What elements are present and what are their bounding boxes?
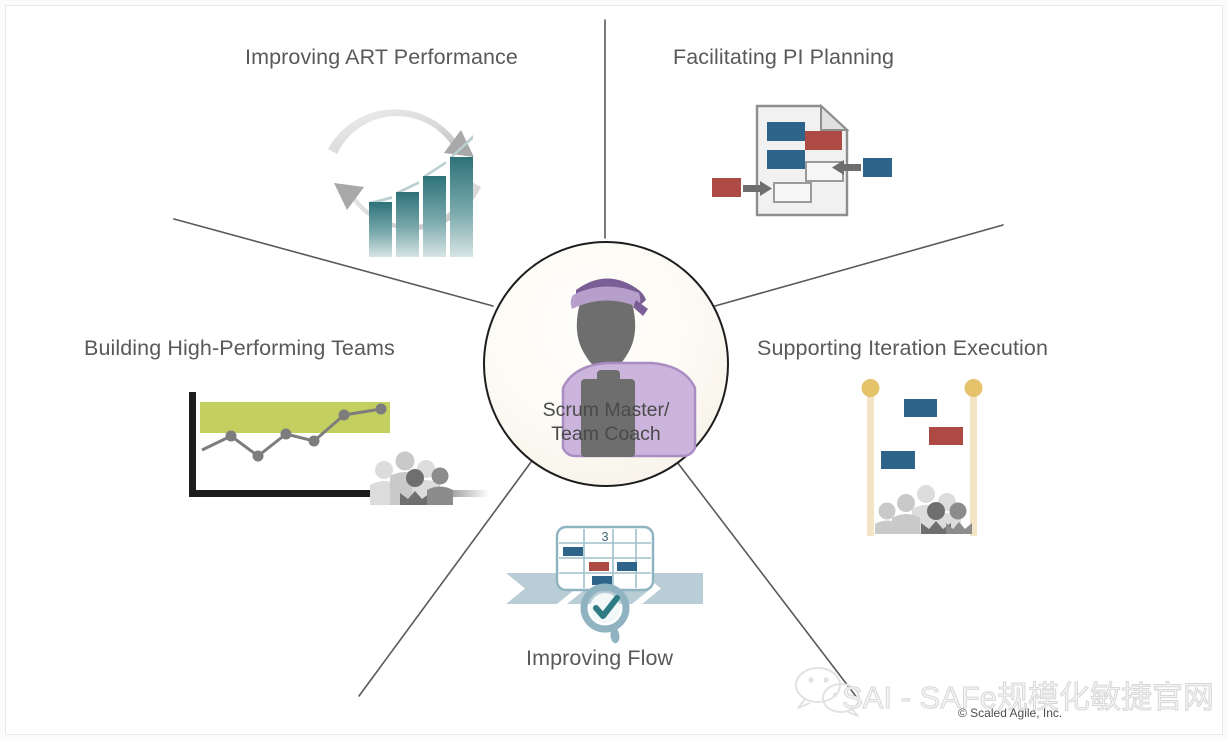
person-with-clipboard-icon: [485, 243, 727, 485]
wip-limit-label: 3: [601, 529, 608, 544]
people-group: [370, 452, 453, 506]
flow-chevrons: [506, 573, 703, 604]
hub-label: Scrum Master/ Team Coach: [485, 398, 727, 446]
spoke-label-building-high-performing-teams[interactable]: Building High-Performing Teams: [84, 336, 395, 361]
spoke-label-supporting-iteration-execution[interactable]: Supporting Iteration Execution: [757, 336, 1048, 361]
spoke-label-improving-flow[interactable]: Improving Flow: [526, 646, 673, 671]
spoke-label-facilitating-pi-planning[interactable]: Facilitating PI Planning: [673, 45, 894, 70]
hub-label-line1: Scrum Master/: [485, 398, 727, 422]
spoke-line-top-left: [174, 219, 493, 306]
spoke-line-top-right: [715, 225, 1003, 306]
hub-label-line2: Team Coach: [485, 422, 727, 446]
copyright-text: © Scaled Agile, Inc.: [958, 706, 1062, 720]
people-group: [875, 485, 972, 534]
spoke-label-improving-art-performance[interactable]: Improving ART Performance: [245, 45, 518, 70]
diagram-canvas: 3 Scrum Master/ Team Coach: [0, 0, 1228, 740]
spoke-line-bottom-right: [674, 458, 861, 703]
quality-checkmark-badge: [584, 587, 626, 643]
spoke-line-bottom-left: [359, 458, 534, 696]
center-hub: Scrum Master/ Team Coach: [483, 241, 729, 487]
